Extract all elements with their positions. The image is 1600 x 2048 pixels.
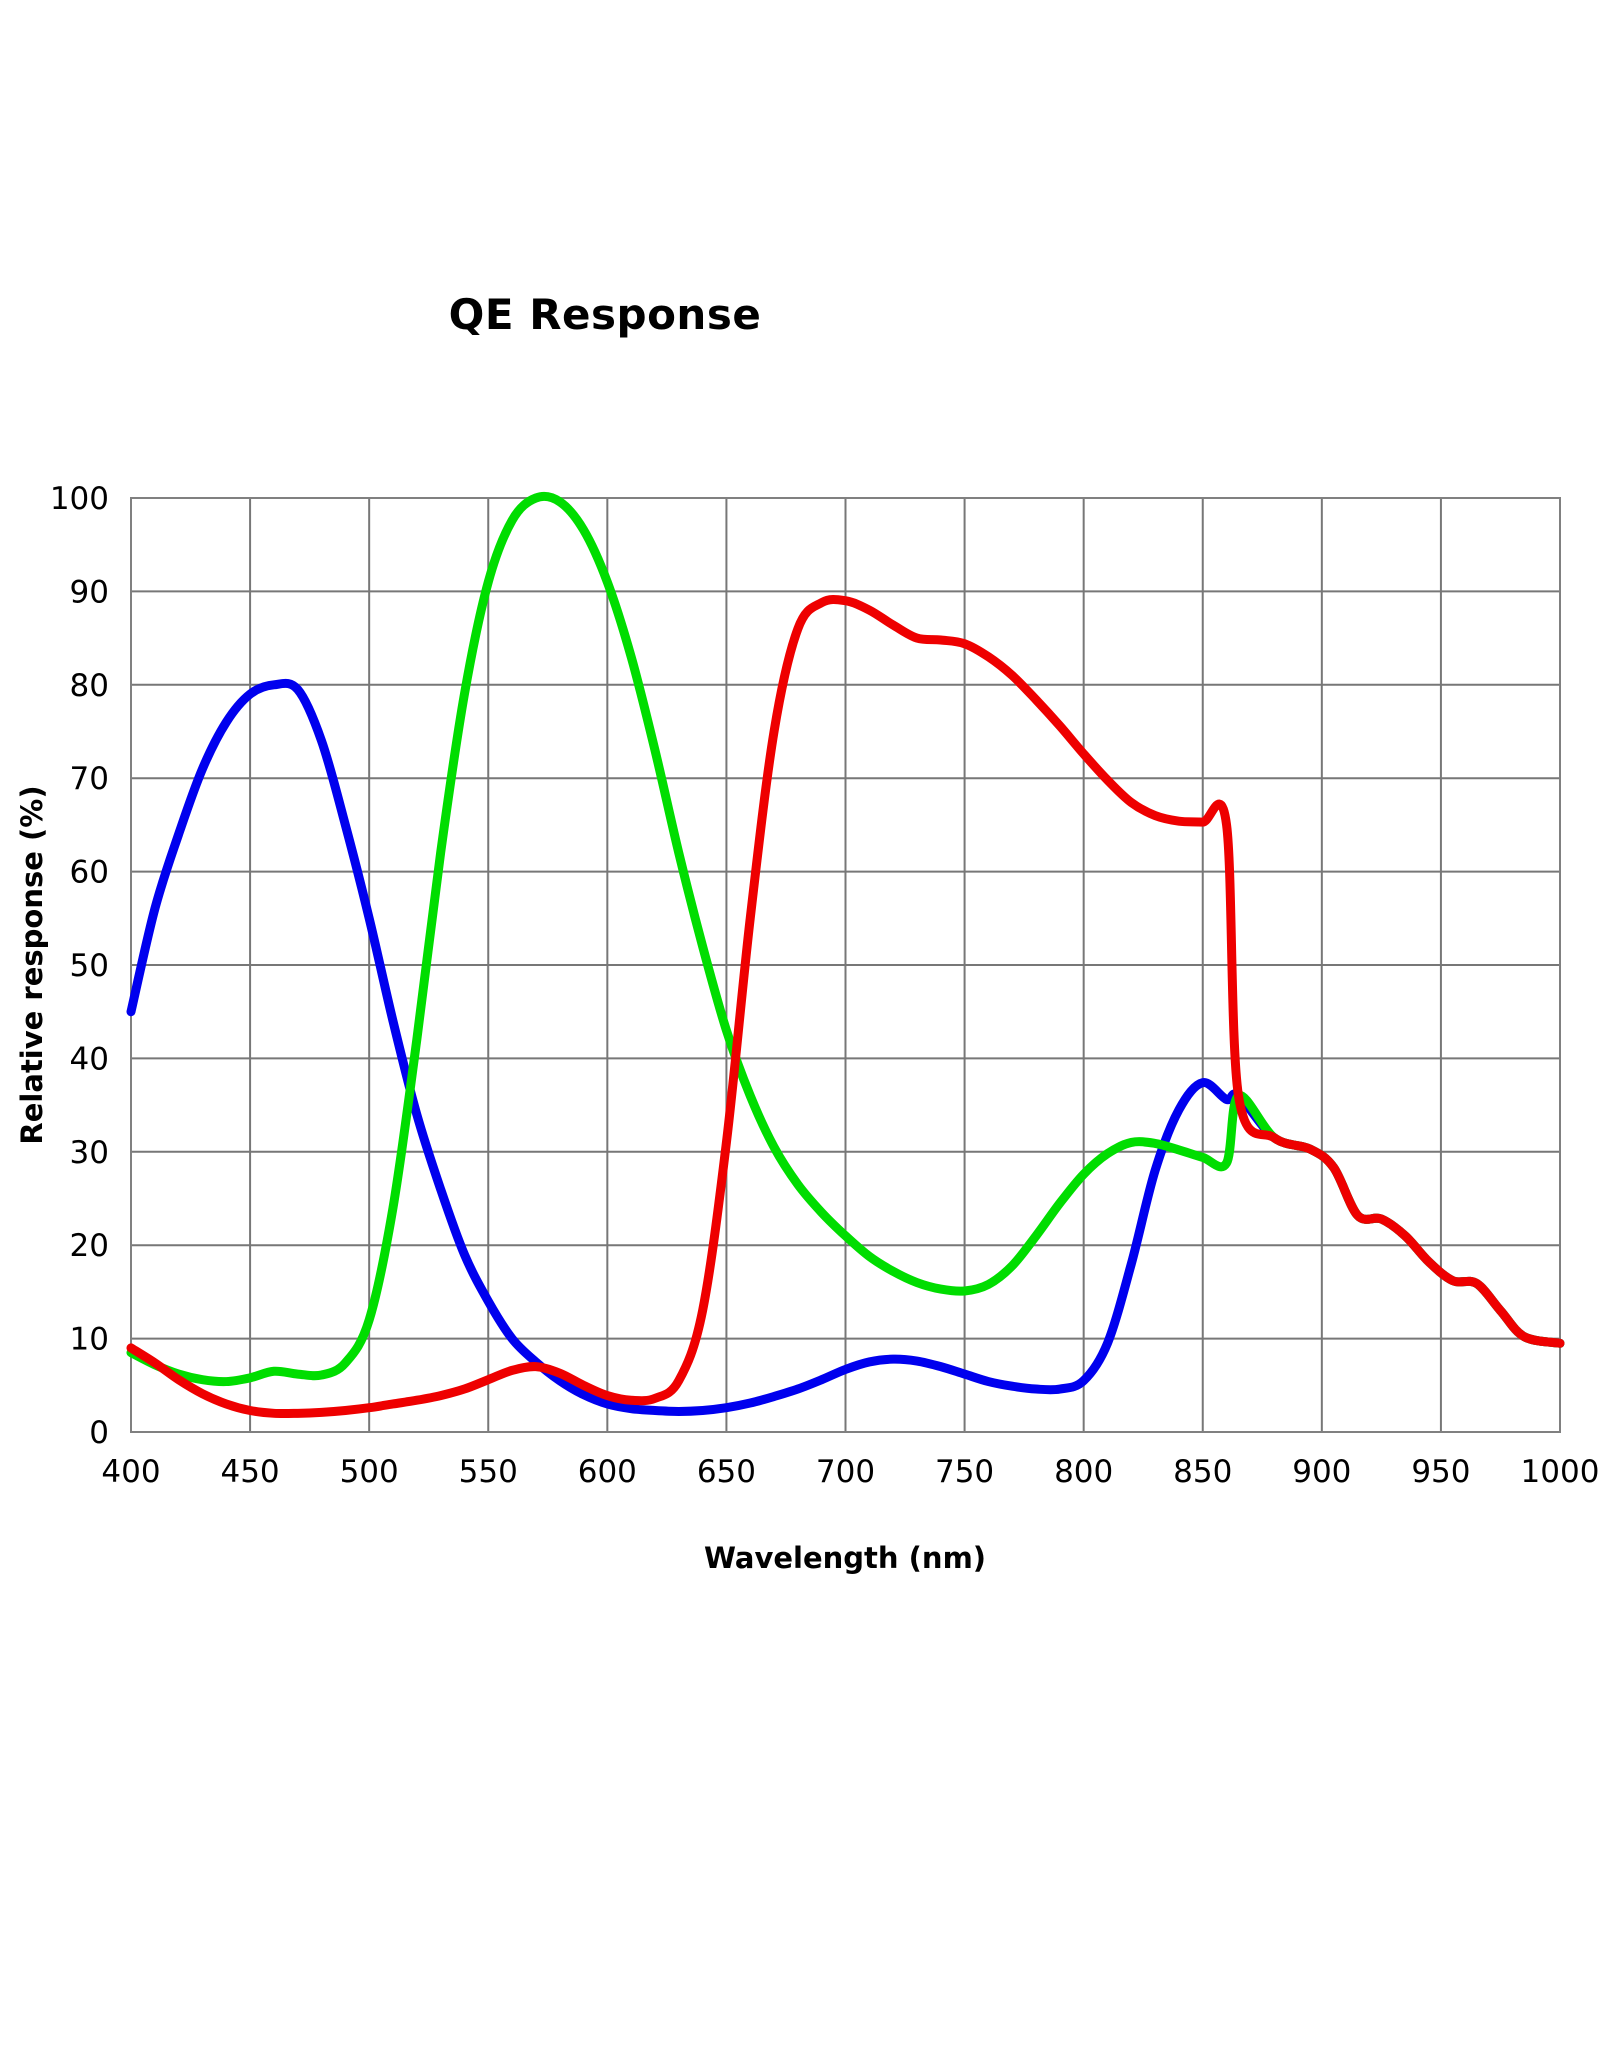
x-tick-label: 950: [1411, 1454, 1470, 1490]
x-tick-label: 450: [220, 1454, 279, 1490]
y-tick-label: 100: [50, 481, 109, 517]
x-axis-title: Wavelength (nm): [704, 1541, 986, 1575]
x-tick-label: 700: [816, 1454, 875, 1490]
x-tick-label: 600: [578, 1454, 637, 1490]
y-tick-label: 80: [70, 668, 109, 704]
y-tick-label: 20: [70, 1228, 109, 1264]
grid-lines: [131, 498, 1560, 1432]
x-tick-label: 500: [340, 1454, 399, 1490]
x-tick-label: 1000: [1521, 1454, 1600, 1490]
y-tick-label: 60: [70, 855, 109, 891]
y-tick-label: 10: [70, 1322, 109, 1358]
x-tick-label: 550: [459, 1454, 518, 1490]
y-tick-label: 40: [70, 1041, 109, 1077]
x-tick-label: 750: [935, 1454, 994, 1490]
plot-area-wrapper: 4004505005506006507007508008509009501000…: [0, 0, 1600, 2048]
x-tick-label: 400: [101, 1454, 160, 1490]
qe-response-figure: QE Response 4004505005506006507007508008…: [0, 0, 1600, 2048]
x-tick-label: 850: [1173, 1454, 1232, 1490]
y-axis-title: Relative response (%): [15, 785, 49, 1144]
y-tick-label: 50: [70, 948, 109, 984]
y-tick-label: 90: [70, 574, 109, 610]
y-tick-label: 30: [70, 1135, 109, 1171]
y-tick-label: 0: [89, 1415, 109, 1451]
qe-response-chart: 4004505005506006507007508008509009501000…: [0, 0, 1600, 2048]
x-tick-label: 900: [1292, 1454, 1351, 1490]
x-tick-label: 800: [1054, 1454, 1113, 1490]
y-tick-label: 70: [70, 761, 109, 797]
x-tick-label: 650: [697, 1454, 756, 1490]
